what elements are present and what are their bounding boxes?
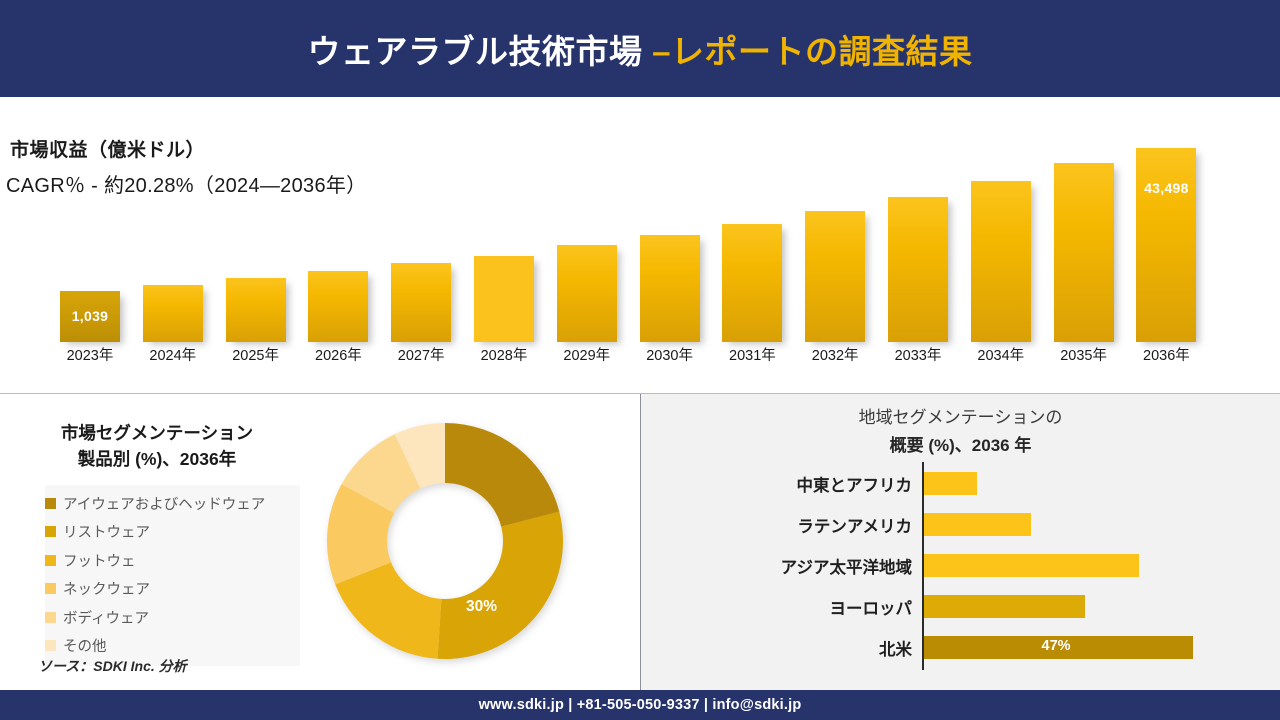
donut-legend-item[interactable]: リストウェア bbox=[45, 518, 300, 547]
revenue-bar bbox=[308, 271, 368, 342]
source-note: ソース：SDKI Inc. 分析 bbox=[38, 656, 187, 676]
region-chart-title: 地域セグメンテーションの 概要 (%)、2036 年 bbox=[641, 404, 1280, 460]
revenue-bar bbox=[640, 235, 700, 342]
donut-slice[interactable] bbox=[445, 423, 559, 527]
region-bar bbox=[924, 472, 977, 495]
revenue-bar-category-label: 2035年 bbox=[1048, 344, 1120, 365]
revenue-bar-category-label: 2025年 bbox=[220, 344, 292, 365]
donut-slice-label: 30% bbox=[466, 598, 497, 616]
revenue-bar-value-label: 43,498 bbox=[1136, 180, 1196, 196]
donut-chart-svg bbox=[320, 416, 570, 666]
revenue-bar-category-label: 2034年 bbox=[965, 344, 1037, 365]
legend-color-swatch-icon bbox=[45, 612, 56, 623]
region-bar-chart: 中東とアフリカラテンアメリカアジア太平洋地域ヨーロッパ北米47% bbox=[641, 460, 1280, 672]
revenue-bar-category-label: 2029年 bbox=[551, 344, 623, 365]
revenue-bar-category-label: 2036年 bbox=[1130, 344, 1202, 365]
region-bar-row: 北米47% bbox=[641, 628, 1280, 668]
revenue-bar bbox=[226, 278, 286, 342]
donut-chart: 30% bbox=[320, 416, 570, 666]
revenue-bar-category-label: 2030年 bbox=[634, 344, 706, 365]
legend-color-swatch-icon bbox=[45, 555, 56, 566]
revenue-bar bbox=[143, 285, 203, 342]
revenue-bar-chart: 1,0392023年2024年2025年2026年2027年2028年2029年… bbox=[0, 97, 1280, 393]
donut-legend: アイウェアおよびヘッドウェアリストウェアフットウェネックウェアボディウェアその他 bbox=[45, 485, 300, 666]
revenue-bar bbox=[474, 256, 534, 342]
revenue-bar bbox=[888, 197, 948, 342]
legend-color-swatch-icon bbox=[45, 498, 56, 509]
revenue-bar-category-label: 2028年 bbox=[468, 344, 540, 365]
revenue-bar-category-label: 2023年 bbox=[54, 344, 126, 365]
footer-contact-text: www.sdki.jp | +81-505-050-9337 | info@sd… bbox=[479, 697, 802, 713]
donut-legend-label: アイウェアおよびヘッドウェア bbox=[63, 493, 265, 514]
region-bar-row: ヨーロッパ bbox=[641, 587, 1280, 627]
revenue-bar bbox=[805, 211, 865, 342]
page-title: ウェアラブル技術市場 –レポートの調査結果 bbox=[307, 25, 972, 73]
donut-legend-label: ネックウェア bbox=[63, 578, 150, 599]
header-banner: ウェアラブル技術市場 –レポートの調査結果 bbox=[0, 0, 1280, 97]
region-bar-row: ラテンアメリカ bbox=[641, 505, 1280, 545]
donut-legend-item[interactable]: アイウェアおよびヘッドウェア bbox=[45, 489, 300, 518]
donut-legend-label: リストウェア bbox=[63, 521, 150, 542]
donut-legend-item[interactable]: ボディウェア bbox=[45, 603, 300, 632]
revenue-bar-category-label: 2031年 bbox=[716, 344, 788, 365]
donut-legend-item[interactable]: ネックウェア bbox=[45, 575, 300, 604]
revenue-bar-category-label: 2024年 bbox=[137, 344, 209, 365]
region-bar-category-label: ヨーロッパ bbox=[830, 595, 913, 619]
page-title-accent: –レポートの調査結果 bbox=[652, 33, 972, 70]
footer-banner: www.sdki.jp | +81-505-050-9337 | info@sd… bbox=[0, 690, 1280, 720]
revenue-bar-category-label: 2026年 bbox=[302, 344, 374, 365]
region-bar-category-label: 北米 bbox=[879, 636, 912, 660]
donut-chart-title: 市場セグメンテーション 製品別 (%)、2036年 bbox=[12, 420, 302, 473]
donut-legend-item[interactable]: フットウェ bbox=[45, 546, 300, 575]
region-bar-category-label: アジア太平洋地域 bbox=[781, 554, 912, 578]
region-bar-row: 中東とアフリカ bbox=[641, 464, 1280, 504]
revenue-bar bbox=[391, 263, 451, 342]
revenue-bar bbox=[971, 181, 1031, 342]
donut-title-line1: 市場セグメンテーション bbox=[12, 420, 302, 446]
region-bar-category-label: ラテンアメリカ bbox=[797, 513, 912, 537]
donut-slice[interactable] bbox=[438, 512, 563, 659]
legend-color-swatch-icon bbox=[45, 640, 56, 651]
revenue-chart-panel: 市場収益（億米ドル） CAGR％ - 約20.28%（2024―2036年） 1… bbox=[0, 97, 1280, 394]
region-bar-category-label: 中東とアフリカ bbox=[797, 472, 913, 496]
region-title-line2: 概要 (%)、2036 年 bbox=[641, 432, 1280, 460]
revenue-bar-category-label: 2032年 bbox=[799, 344, 871, 365]
revenue-bar-category-label: 2033年 bbox=[882, 344, 954, 365]
region-bar bbox=[924, 595, 1085, 618]
region-bar-row: アジア太平洋地域 bbox=[641, 546, 1280, 586]
revenue-bar bbox=[1136, 148, 1196, 342]
revenue-bar bbox=[1054, 163, 1114, 342]
revenue-bar bbox=[557, 245, 617, 342]
donut-legend-label: その他 bbox=[63, 635, 107, 656]
revenue-bar-value-label: 1,039 bbox=[60, 308, 120, 324]
region-bar bbox=[924, 513, 1031, 536]
revenue-bar-category-label: 2027年 bbox=[385, 344, 457, 365]
product-segmentation-panel: 市場セグメンテーション 製品別 (%)、2036年 アイウェアおよびヘッドウェア… bbox=[0, 394, 641, 690]
region-segmentation-panel: 地域セグメンテーションの 概要 (%)、2036 年 中東とアフリカラテンアメリ… bbox=[641, 394, 1280, 690]
legend-color-swatch-icon bbox=[45, 583, 56, 594]
page-title-main: ウェアラブル技術市場 bbox=[307, 33, 652, 70]
donut-legend-label: ボディウェア bbox=[63, 607, 149, 628]
region-bar-value-label: 47% bbox=[1042, 638, 1071, 654]
donut-legend-label: フットウェ bbox=[63, 550, 136, 571]
legend-color-swatch-icon bbox=[45, 526, 56, 537]
revenue-bar bbox=[722, 224, 782, 342]
region-title-line1: 地域セグメンテーションの bbox=[641, 404, 1280, 432]
region-bar bbox=[924, 554, 1139, 577]
donut-title-line2: 製品別 (%)、2036年 bbox=[12, 446, 302, 472]
